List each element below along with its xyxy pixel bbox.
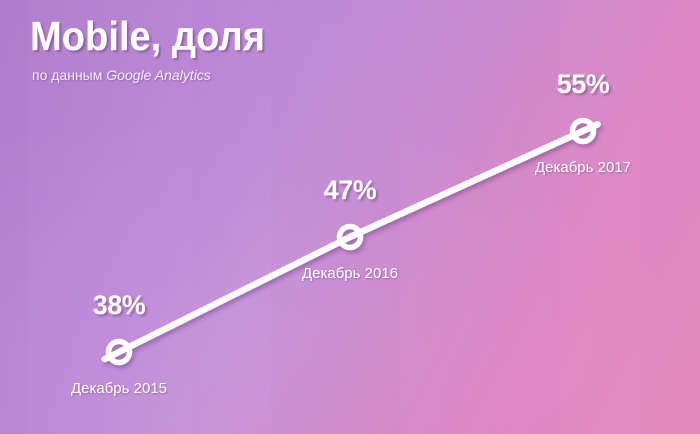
subtitle: по данным Google Analytics	[32, 66, 283, 84]
data-point-category-label: Декабрь 2015	[71, 380, 167, 398]
infographic-canvas: Mobile, доля по данным Google Analytics …	[0, 0, 700, 434]
data-point-value-label: 38%	[93, 290, 146, 320]
subtitle-prefix: по данным	[32, 67, 102, 83]
data-point-value-label: 47%	[324, 175, 377, 205]
page-title: Mobile, доля	[30, 12, 265, 60]
data-point-category-label: Декабрь 2017	[535, 159, 631, 177]
header: Mobile, доля по данным Google Analytics	[30, 12, 283, 84]
subtitle-data-source: Google Analytics	[106, 67, 211, 83]
data-point-category-label: Декабрь 2016	[302, 265, 398, 283]
data-point-value-label: 55%	[557, 69, 610, 99]
